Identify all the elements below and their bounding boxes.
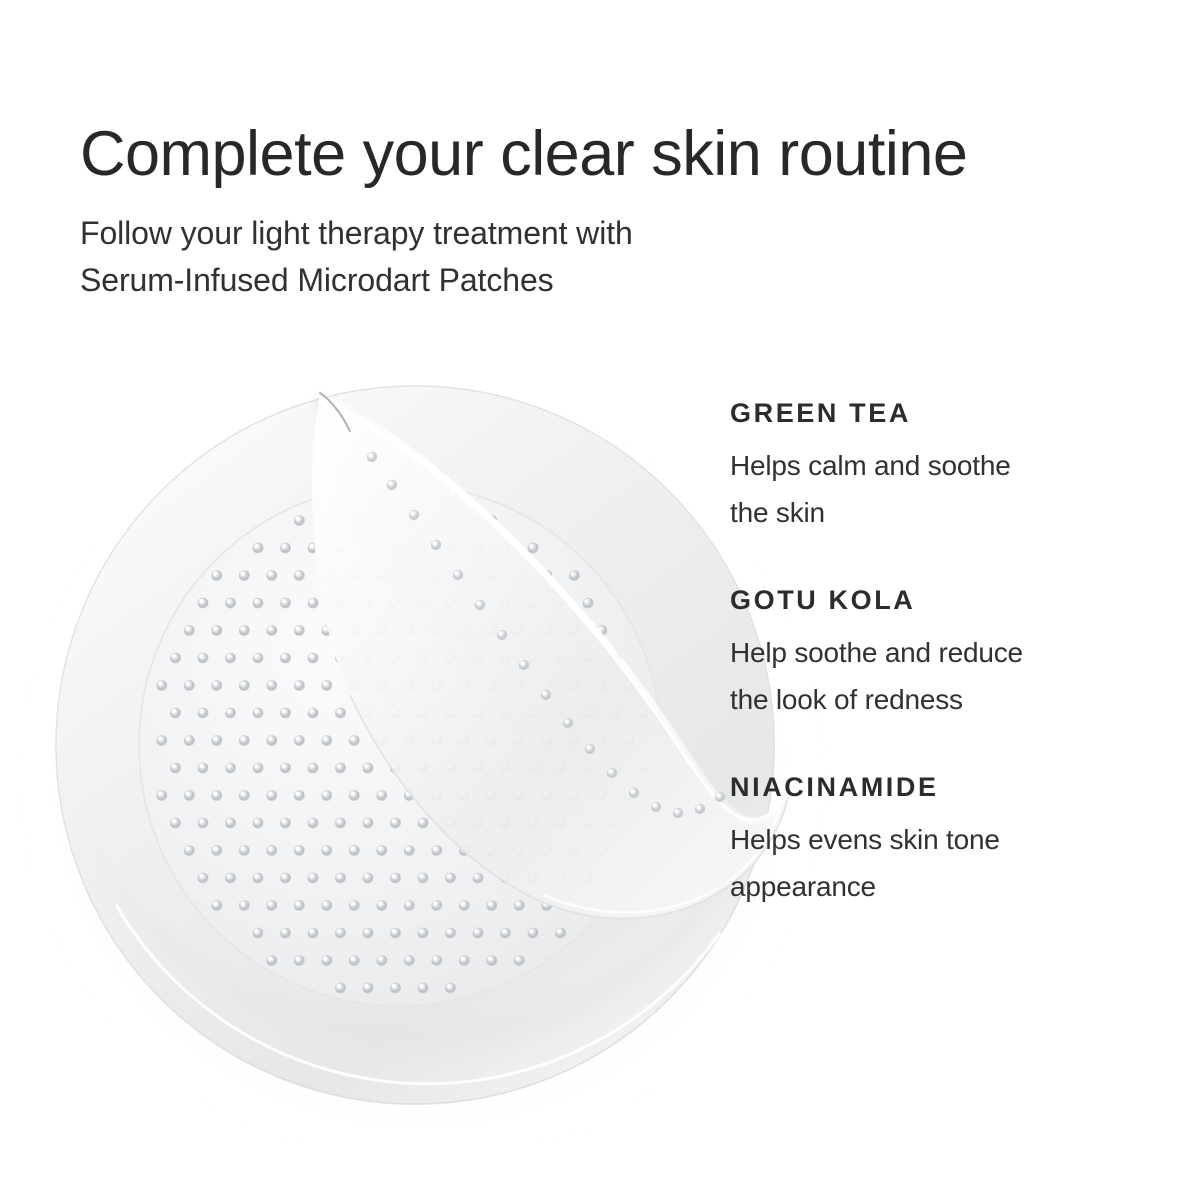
microdart-highlight: [337, 984, 341, 988]
microdart: [239, 845, 250, 856]
microdart-highlight: [296, 957, 300, 961]
microdart: [321, 955, 332, 966]
microdart: [335, 708, 346, 719]
microdart-highlight: [227, 599, 231, 603]
microdart: [308, 598, 319, 609]
microdart: [266, 845, 277, 856]
microdart-highlight: [392, 819, 396, 823]
microdart: [308, 708, 319, 719]
header-block: Complete your clear skin routine Follow …: [80, 118, 1100, 304]
microdart-highlight: [337, 709, 341, 713]
microdart-highlight: [268, 572, 272, 576]
microdart: [266, 680, 277, 691]
microdart-highlight: [419, 874, 423, 878]
fold-edge-microdart-highlight: [521, 661, 525, 665]
microdart-highlight: [254, 654, 258, 658]
microdart-highlight: [351, 792, 355, 796]
microdart-highlight: [282, 599, 286, 603]
microdart: [294, 845, 305, 856]
microdart: [198, 708, 209, 719]
microdart: [170, 763, 181, 774]
microdart: [294, 735, 305, 746]
ingredient-item-niacinamide: NIACINAMIDE Helps evens skin tone appear…: [730, 770, 1130, 910]
microdart: [459, 900, 470, 911]
microdart-highlight: [378, 957, 382, 961]
microdart: [486, 955, 497, 966]
ingredient-name: GREEN TEA: [730, 396, 1130, 430]
microdart: [266, 625, 277, 636]
microdart-highlight: [488, 902, 492, 906]
fold-edge-microdart-highlight: [565, 719, 569, 723]
microdart: [321, 900, 332, 911]
microdart: [431, 955, 442, 966]
microdart-highlight: [268, 627, 272, 631]
microdart-highlight: [557, 929, 561, 933]
microdart: [294, 955, 305, 966]
microdart-highlight: [282, 654, 286, 658]
microdart-highlight: [309, 874, 313, 878]
fold-edge-microdart: [541, 690, 551, 700]
microdart-highlight: [461, 902, 465, 906]
microdart-highlight: [502, 929, 506, 933]
microdart: [280, 818, 291, 829]
fold-edge-microdart: [431, 540, 441, 550]
microdart-highlight: [296, 517, 300, 521]
microdart: [321, 790, 332, 801]
microdart-highlight: [378, 792, 382, 796]
fold-edge-microdart: [585, 744, 595, 754]
microdart-highlight: [227, 764, 231, 768]
microdart: [184, 625, 195, 636]
fold-edge-microdart-highlight: [587, 745, 591, 749]
microdart: [253, 873, 264, 884]
fold-edge-microdart-highlight: [631, 789, 635, 793]
microdart: [156, 680, 167, 691]
microdart-highlight: [199, 819, 203, 823]
ingredient-description-line-2: the skin: [730, 489, 1130, 536]
microdart: [321, 680, 332, 691]
microdart-highlight: [254, 764, 258, 768]
microdart: [225, 708, 236, 719]
microdart-highlight: [282, 764, 286, 768]
microdart-highlight: [213, 792, 217, 796]
microdart-highlight: [158, 682, 162, 686]
microdart-highlight: [199, 599, 203, 603]
microdart: [308, 928, 319, 939]
microdart: [280, 598, 291, 609]
microdart: [253, 598, 264, 609]
fold-edge-microdart-highlight: [389, 481, 393, 485]
microdart-highlight: [323, 792, 327, 796]
microdart: [418, 818, 429, 829]
microdart-highlight: [309, 819, 313, 823]
microdart: [184, 735, 195, 746]
microdart: [253, 763, 264, 774]
microdart-highlight: [309, 654, 313, 658]
microdart-highlight: [323, 902, 327, 906]
microdart-highlight: [296, 792, 300, 796]
microdart: [239, 680, 250, 691]
ingredient-description-line-1: Help soothe and reduce: [730, 637, 1023, 668]
ingredient-list: GREEN TEA Helps calm and soothe the skin…: [730, 396, 1130, 910]
microdart: [239, 900, 250, 911]
microdart: [225, 653, 236, 664]
microdart-highlight: [337, 874, 341, 878]
microdart-highlight: [241, 682, 245, 686]
microdart-highlight: [323, 957, 327, 961]
microdart-highlight: [364, 929, 368, 933]
fold-edge-microdart: [409, 510, 419, 520]
page-title: Complete your clear skin routine: [80, 118, 1100, 190]
microdart-highlight: [351, 957, 355, 961]
microdart: [294, 570, 305, 581]
microdart: [308, 763, 319, 774]
microdart-highlight: [364, 984, 368, 988]
microdart-patch-illustration: [20, 345, 840, 1145]
microdart-highlight: [296, 847, 300, 851]
microdart: [376, 900, 387, 911]
microdart-highlight: [433, 957, 437, 961]
microdart: [500, 928, 511, 939]
microdart-highlight: [241, 847, 245, 851]
microdart: [239, 735, 250, 746]
microdart-highlight: [364, 764, 368, 768]
microdart: [486, 900, 497, 911]
microdart-highlight: [254, 599, 258, 603]
microdart-highlight: [392, 874, 396, 878]
microdart-highlight: [309, 544, 313, 548]
microdart-highlight: [323, 682, 327, 686]
microdart: [253, 818, 264, 829]
microdart: [363, 818, 374, 829]
microdart: [376, 955, 387, 966]
page-subtitle-line-1: Follow your light therapy treatment with: [80, 215, 633, 251]
microdart: [390, 928, 401, 939]
microdart-highlight: [241, 737, 245, 741]
microdart-highlight: [296, 572, 300, 576]
fold-edge-microdart: [475, 600, 485, 610]
microdart-highlight: [241, 627, 245, 631]
microdart: [225, 763, 236, 774]
microdart-highlight: [227, 819, 231, 823]
microdart: [404, 955, 415, 966]
microdart: [170, 708, 181, 719]
microdart: [280, 708, 291, 719]
fold-edge-microdart: [629, 788, 639, 798]
ingredient-description: Helps calm and soothe the skin: [730, 442, 1130, 536]
fold-edge-microdart: [497, 630, 507, 640]
ingredient-description-line-2: the look of redness: [730, 676, 1130, 723]
microdart: [349, 955, 360, 966]
fold-edge-microdart: [607, 768, 617, 778]
microdart-highlight: [227, 654, 231, 658]
microdart-highlight: [406, 957, 410, 961]
microdart-highlight: [186, 737, 190, 741]
microdart: [211, 845, 222, 856]
microdart: [349, 790, 360, 801]
microdart: [514, 955, 525, 966]
microdart-highlight: [199, 874, 203, 878]
microdart: [225, 818, 236, 829]
microdart: [390, 873, 401, 884]
microdart: [225, 873, 236, 884]
microdart-highlight: [213, 627, 217, 631]
microdart: [294, 790, 305, 801]
fold-edge-microdart: [387, 480, 397, 490]
microdart-highlight: [268, 737, 272, 741]
microdart: [280, 928, 291, 939]
fold-edge-microdart: [695, 804, 705, 814]
microdart-highlight: [241, 792, 245, 796]
ingredient-item-green-tea: GREEN TEA Helps calm and soothe the skin: [730, 396, 1130, 536]
microdart-highlight: [351, 737, 355, 741]
microdart: [294, 680, 305, 691]
microdart-highlight: [406, 902, 410, 906]
microdart-highlight: [419, 819, 423, 823]
microdart: [266, 955, 277, 966]
microdart-highlight: [254, 874, 258, 878]
microdart-highlight: [296, 627, 300, 631]
microdart: [294, 625, 305, 636]
microdart-highlight: [309, 929, 313, 933]
microdart-highlight: [516, 902, 520, 906]
microdart-highlight: [254, 709, 258, 713]
microdart-highlight: [268, 682, 272, 686]
microdart: [390, 818, 401, 829]
microdart: [211, 625, 222, 636]
microdart: [280, 763, 291, 774]
microdart-highlight: [213, 572, 217, 576]
microdart-highlight: [364, 819, 368, 823]
microdart: [569, 570, 580, 581]
ingredient-name: NIACINAMIDE: [730, 770, 1130, 804]
ingredient-description-line-1: Helps evens skin tone: [730, 824, 1000, 855]
microdart: [211, 570, 222, 581]
ingredient-description: Helps evens skin tone appearance: [730, 816, 1130, 910]
microdart: [280, 653, 291, 664]
microdart: [198, 818, 209, 829]
microdart-highlight: [309, 764, 313, 768]
microdart: [253, 653, 264, 664]
microdart: [253, 708, 264, 719]
microdart-highlight: [186, 682, 190, 686]
microdart: [404, 900, 415, 911]
microdart: [184, 845, 195, 856]
microdart: [404, 845, 415, 856]
microdart-highlight: [529, 929, 533, 933]
fold-edge-microdart-highlight: [609, 769, 613, 773]
microdart: [459, 955, 470, 966]
microdart-highlight: [378, 902, 382, 906]
microdart: [445, 928, 456, 939]
microdart: [418, 873, 429, 884]
microdart-highlight: [213, 737, 217, 741]
microdart-highlight: [351, 847, 355, 851]
fold-edge-microdart-highlight: [675, 809, 679, 813]
fold-edge-microdart-highlight: [411, 511, 415, 515]
microdart: [445, 983, 456, 994]
microdart-highlight: [337, 764, 341, 768]
microdart-highlight: [172, 764, 176, 768]
microdart-highlight: [282, 819, 286, 823]
microdart-highlight: [199, 709, 203, 713]
microdart: [418, 983, 429, 994]
microdart: [363, 928, 374, 939]
microdart: [184, 790, 195, 801]
microdart-highlight: [419, 929, 423, 933]
microdart: [266, 790, 277, 801]
microdart-highlight: [199, 764, 203, 768]
microdart: [349, 735, 360, 746]
microdart-highlight: [392, 984, 396, 988]
microdart-highlight: [254, 819, 258, 823]
microdart-highlight: [282, 709, 286, 713]
microdart: [363, 873, 374, 884]
product-image: [20, 345, 840, 1145]
microdart-highlight: [296, 682, 300, 686]
page-root: Complete your clear skin routine Follow …: [0, 0, 1200, 1200]
microdart-highlight: [337, 819, 341, 823]
microdart-highlight: [296, 902, 300, 906]
microdart: [335, 818, 346, 829]
microdart-highlight: [227, 709, 231, 713]
microdart-highlight: [172, 709, 176, 713]
microdart: [253, 928, 264, 939]
microdart: [528, 928, 539, 939]
microdart: [308, 653, 319, 664]
microdart: [321, 845, 332, 856]
microdart-highlight: [419, 984, 423, 988]
fold-edge-microdart: [453, 570, 463, 580]
microdart: [198, 873, 209, 884]
microdart: [583, 598, 594, 609]
microdart-highlight: [254, 544, 258, 548]
microdart: [418, 928, 429, 939]
microdart: [156, 790, 167, 801]
microdart: [156, 735, 167, 746]
fold-edge-microdart-highlight: [543, 691, 547, 695]
microdart: [239, 790, 250, 801]
microdart-highlight: [213, 682, 217, 686]
microdart-highlight: [199, 654, 203, 658]
microdart-highlight: [213, 847, 217, 851]
microdart-highlight: [296, 737, 300, 741]
microdart-highlight: [268, 847, 272, 851]
microdart-highlight: [186, 847, 190, 851]
microdart: [349, 900, 360, 911]
microdart-highlight: [186, 792, 190, 796]
fold-edge-microdart: [715, 792, 725, 802]
microdart: [376, 845, 387, 856]
microdart: [445, 873, 456, 884]
microdart-highlight: [172, 654, 176, 658]
microdart: [211, 680, 222, 691]
ingredient-item-gotu-kola: GOTU KOLA Help soothe and reduce the loo…: [730, 583, 1130, 723]
microdart: [363, 983, 374, 994]
microdart-highlight: [364, 874, 368, 878]
microdart: [253, 543, 264, 554]
microdart: [376, 790, 387, 801]
microdart: [170, 818, 181, 829]
microdart-highlight: [474, 874, 478, 878]
microdart: [266, 735, 277, 746]
microdart: [198, 653, 209, 664]
microdart: [308, 873, 319, 884]
fold-edge-microdart-highlight: [433, 541, 437, 545]
microdart-highlight: [516, 957, 520, 961]
microdart: [349, 845, 360, 856]
microdart: [514, 900, 525, 911]
microdart-highlight: [309, 709, 313, 713]
microdart: [239, 570, 250, 581]
fold-edge-microdart: [367, 452, 377, 462]
microdart-highlight: [172, 819, 176, 823]
microdart-highlight: [337, 929, 341, 933]
microdart: [211, 735, 222, 746]
microdart: [266, 900, 277, 911]
microdart: [211, 900, 222, 911]
ingredient-description-line-1: Helps calm and soothe: [730, 450, 1011, 481]
microdart-highlight: [268, 792, 272, 796]
microdart: [280, 873, 291, 884]
microdart: [321, 735, 332, 746]
microdart: [335, 983, 346, 994]
microdart: [225, 598, 236, 609]
microdart-highlight: [447, 874, 451, 878]
microdart: [198, 763, 209, 774]
microdart-highlight: [351, 902, 355, 906]
fold-edge-microdart-highlight: [499, 631, 503, 635]
microdart: [335, 763, 346, 774]
fold-edge-microdart-highlight: [477, 601, 481, 605]
microdart: [473, 928, 484, 939]
microdart: [473, 873, 484, 884]
fold-edge-microdart: [673, 808, 683, 818]
microdart-highlight: [461, 957, 465, 961]
microdart-highlight: [227, 874, 231, 878]
microdart: [363, 763, 374, 774]
microdart-highlight: [433, 902, 437, 906]
microdart-highlight: [268, 902, 272, 906]
ingredient-name: GOTU KOLA: [730, 583, 1130, 617]
microdart: [170, 653, 181, 664]
fold-edge-microdart-highlight: [697, 805, 701, 809]
microdart-highlight: [323, 847, 327, 851]
microdart-highlight: [447, 984, 451, 988]
microdart-highlight: [433, 847, 437, 851]
microdart-highlight: [158, 792, 162, 796]
microdart-highlight: [282, 544, 286, 548]
microdart-highlight: [378, 847, 382, 851]
microdart: [335, 928, 346, 939]
microdart: [431, 900, 442, 911]
fold-edge-microdart: [519, 660, 529, 670]
microdart: [555, 928, 566, 939]
microdart: [184, 680, 195, 691]
ingredient-description-line-2: appearance: [730, 863, 1130, 910]
microdart-highlight: [241, 902, 245, 906]
fold-edge-microdart: [563, 718, 573, 728]
microdart: [294, 900, 305, 911]
microdart-highlight: [282, 929, 286, 933]
microdart-highlight: [406, 847, 410, 851]
microdart-highlight: [282, 874, 286, 878]
microdart: [266, 570, 277, 581]
fold-edge-microdart-highlight: [653, 803, 657, 807]
microdart: [390, 983, 401, 994]
fold-edge-microdart-highlight: [455, 571, 459, 575]
fold-edge-microdart: [651, 802, 661, 812]
